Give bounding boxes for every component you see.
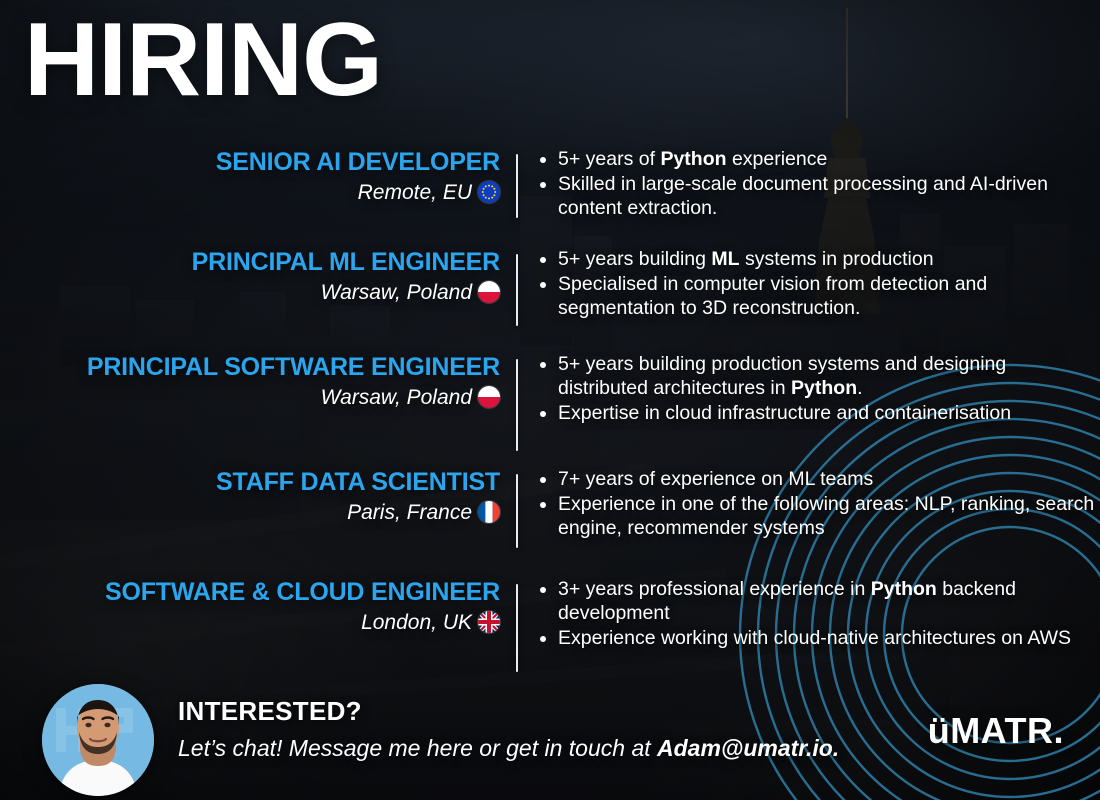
- call-to-action: INTERESTED? Let’s chat! Message me here …: [178, 696, 839, 762]
- job-title: PRINCIPAL SOFTWARE ENGINEER: [0, 353, 500, 381]
- job-list: SENIOR AI DEVELOPER Remote, EU 5+ years …: [0, 148, 1100, 688]
- job-requirements: 7+ years of experience on ML teams Exper…: [518, 468, 1100, 541]
- job-heading: PRINCIPAL SOFTWARE ENGINEER Warsaw, Pola…: [0, 353, 516, 410]
- job-heading: SOFTWARE & CLOUD ENGINEER London, UK: [0, 578, 516, 635]
- list-item: Expertise in cloud infrastructure and co…: [536, 402, 1100, 426]
- bullet-list: 5+ years of Python experience Skilled in…: [536, 148, 1100, 220]
- job-location-label: Warsaw, Poland: [321, 281, 472, 304]
- cta-subtitle: Let’s chat! Message me here or get in to…: [178, 735, 839, 762]
- avatar: [42, 684, 154, 796]
- job-location: London, UK: [0, 610, 500, 635]
- list-item: 5+ years of Python experience: [536, 148, 1100, 172]
- poland-flag-icon: [478, 386, 500, 408]
- footer: INTERESTED? Let’s chat! Message me here …: [0, 670, 1100, 800]
- list-item: Specialised in computer vision from dete…: [536, 273, 1100, 321]
- job-title: SENIOR AI DEVELOPER: [0, 148, 500, 176]
- job-location: Paris, France: [0, 500, 500, 525]
- job-location-label: Remote, EU: [358, 181, 472, 204]
- eu-flag-icon: [478, 181, 500, 203]
- job-location: Warsaw, Poland: [0, 280, 500, 305]
- job-heading: STAFF DATA SCIENTIST Paris, France: [0, 468, 516, 525]
- job-requirements: 5+ years building production systems and…: [518, 353, 1100, 426]
- job-row: PRINCIPAL ML ENGINEER Warsaw, Poland 5+ …: [0, 248, 1100, 353]
- list-item: Skilled in large-scale document processi…: [536, 173, 1100, 221]
- job-title: SOFTWARE & CLOUD ENGINEER: [0, 578, 500, 606]
- hiring-poster: HIRING SENIOR AI DEVELOPER Remote, EU 5+…: [0, 0, 1100, 800]
- bullet-list: 5+ years building ML systems in producti…: [536, 248, 1100, 320]
- job-location-label: Paris, France: [347, 501, 472, 524]
- job-location-label: Warsaw, Poland: [321, 386, 472, 409]
- job-row: SENIOR AI DEVELOPER Remote, EU 5+ years …: [0, 148, 1100, 248]
- umatr-logo: üMATR.: [928, 710, 1064, 752]
- cta-title: INTERESTED?: [178, 696, 839, 727]
- job-heading: SENIOR AI DEVELOPER Remote, EU: [0, 148, 516, 205]
- bullet-list: 5+ years building production systems and…: [536, 353, 1100, 425]
- list-item: 5+ years building production systems and…: [536, 353, 1100, 401]
- job-requirements: 5+ years building ML systems in producti…: [518, 248, 1100, 321]
- list-item: Experience in one of the following areas…: [536, 493, 1100, 541]
- job-row: STAFF DATA SCIENTIST Paris, France 7+ ye…: [0, 468, 1100, 578]
- bullet-list: 7+ years of experience on ML teams Exper…: [536, 468, 1100, 540]
- job-row: PRINCIPAL SOFTWARE ENGINEER Warsaw, Pola…: [0, 353, 1100, 468]
- job-title: PRINCIPAL ML ENGINEER: [0, 248, 500, 276]
- poster-content: HIRING SENIOR AI DEVELOPER Remote, EU 5+…: [0, 0, 1100, 800]
- uk-flag-icon: [478, 611, 500, 633]
- job-location: Warsaw, Poland: [0, 385, 500, 410]
- bullet-list: 3+ years professional experience in Pyth…: [536, 578, 1100, 650]
- page-title: HIRING: [24, 8, 382, 112]
- job-requirements: 3+ years professional experience in Pyth…: [518, 578, 1100, 651]
- list-item: 7+ years of experience on ML teams: [536, 468, 1100, 492]
- job-title: STAFF DATA SCIENTIST: [0, 468, 500, 496]
- list-item: 3+ years professional experience in Pyth…: [536, 578, 1100, 626]
- list-item: Experience working with cloud-native arc…: [536, 627, 1100, 651]
- job-heading: PRINCIPAL ML ENGINEER Warsaw, Poland: [0, 248, 516, 305]
- list-item: 5+ years building ML systems in producti…: [536, 248, 1100, 272]
- job-location: Remote, EU: [0, 180, 500, 205]
- poland-flag-icon: [478, 281, 500, 303]
- job-requirements: 5+ years of Python experience Skilled in…: [518, 148, 1100, 221]
- france-flag-icon: [478, 501, 500, 523]
- job-location-label: London, UK: [361, 611, 472, 634]
